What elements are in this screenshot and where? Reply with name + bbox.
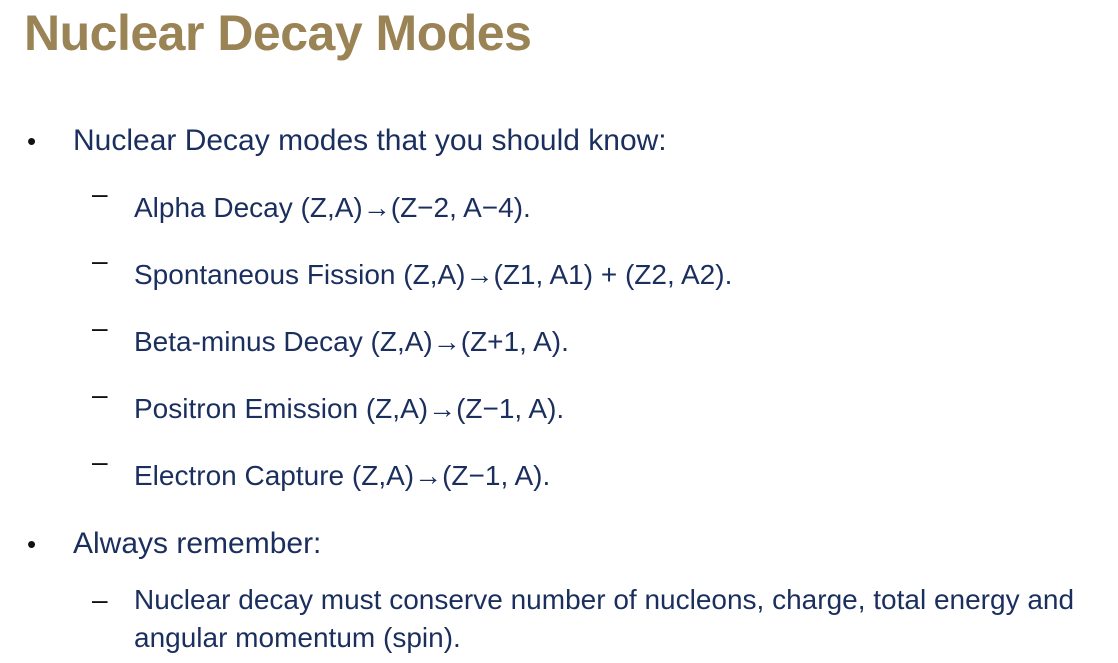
bullet-group-decay-modes: •Nuclear Decay modes that you should kno… — [0, 118, 1118, 509]
sub-bullet-label: Alpha Decay (Z,A)→(Z−2, A−4). — [134, 192, 531, 223]
bullet-dash-icon: – — [92, 375, 114, 415]
sub-bullet-list-decay-modes: –Alpha Decay (Z,A)→(Z−2, A−4). –Spontane… — [0, 174, 1118, 509]
sub-bullet-label: Spontaneous Fission (Z,A)→(Z1, A1) + (Z2… — [134, 259, 732, 290]
sub-bullet-beta-minus-decay: –Beta-minus Decay (Z,A)→(Z+1, A). — [0, 308, 1118, 375]
bullet-level1-decay-modes: •Nuclear Decay modes that you should kno… — [0, 118, 1118, 164]
bullet-dot-icon: • — [27, 118, 43, 164]
bullet-dash-icon: – — [92, 174, 114, 214]
sub-bullet-alpha-decay: –Alpha Decay (Z,A)→(Z−2, A−4). — [0, 174, 1118, 241]
slide-canvas: Nuclear Decay Modes •Nuclear Decay modes… — [0, 0, 1118, 663]
sub-bullet-positron-emission: –Positron Emission (Z,A)→(Z−1, A). — [0, 375, 1118, 442]
bullet-level1-label: Always remember: — [73, 527, 321, 560]
slide-body: •Nuclear Decay modes that you should kno… — [0, 118, 1118, 657]
bullet-group-always-remember: •Always remember: –Nuclear decay must co… — [0, 521, 1118, 657]
sub-bullet-label: Electron Capture (Z,A)→(Z−1, A). — [134, 460, 550, 491]
bullet-level1-label: Nuclear Decay modes that you should know… — [73, 124, 667, 157]
bullet-dash-icon: – — [92, 241, 114, 281]
sub-bullet-label: Nuclear decay must conserve number of nu… — [134, 584, 1074, 653]
sub-bullet-conservation-laws: –Nuclear decay must conserve number of n… — [0, 573, 1118, 657]
bullet-dash-icon: – — [92, 581, 114, 619]
sub-bullet-list-always-remember: –Nuclear decay must conserve number of n… — [0, 573, 1118, 657]
bullet-dash-icon: – — [92, 442, 114, 482]
sub-bullet-spontaneous-fission: –Spontaneous Fission (Z,A)→(Z1, A1) + (Z… — [0, 241, 1118, 308]
bullet-dash-icon: – — [92, 308, 114, 348]
sub-bullet-electron-capture: –Electron Capture (Z,A)→(Z−1, A). — [0, 442, 1118, 509]
sub-bullet-label: Positron Emission (Z,A)→(Z−1, A). — [134, 393, 564, 424]
bullet-level1-always-remember: •Always remember: — [0, 521, 1118, 567]
page-title: Nuclear Decay Modes — [24, 2, 531, 64]
bullet-dot-icon: • — [27, 521, 43, 567]
sub-bullet-label: Beta-minus Decay (Z,A)→(Z+1, A). — [134, 326, 569, 357]
